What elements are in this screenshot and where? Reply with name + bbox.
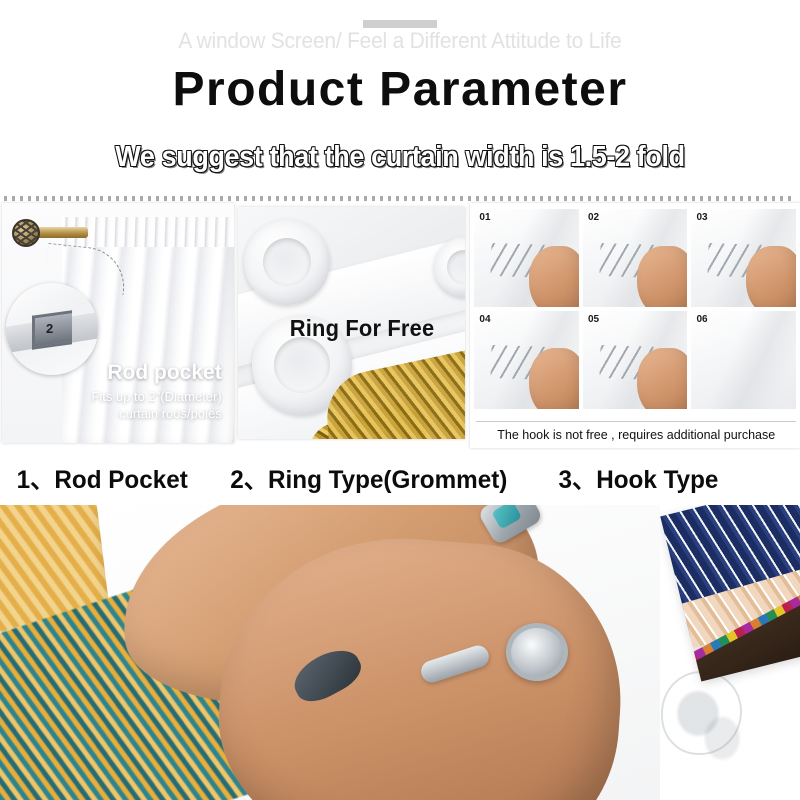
rod-pocket-description: Fits up to 2"(Diameter) curtain rods/pol…	[91, 388, 221, 423]
hand-illustration	[637, 246, 687, 307]
type-label-rod-pocket: 1、Rod Pocket	[17, 460, 188, 496]
header-eyebrow: A window Screen/ Feel a Different Attitu…	[20, 28, 780, 54]
step-number: 03	[696, 212, 707, 223]
hook-step[interactable]: 02	[583, 209, 688, 307]
magnifier-measure-label: 2	[46, 321, 53, 336]
step-number: 02	[588, 212, 599, 223]
silver-ring	[506, 623, 568, 681]
panel-row: 2 Rod pocket Fits up to 2"(Diameter) cur…	[0, 203, 800, 448]
hand-illustration	[637, 348, 687, 409]
panel-ring-grommet[interactable]: Ring For Free	[238, 207, 466, 439]
hook-step[interactable]: 04	[474, 311, 579, 409]
product-parameter-page: A window Screen/ Feel a Different Attitu…	[0, 0, 800, 800]
lifestyle-photo-row	[0, 505, 800, 800]
step-number: 01	[479, 212, 490, 223]
hook-step-grid: 01 02 03 04	[474, 209, 796, 409]
page-title: Product Parameter	[0, 62, 800, 117]
step-number: 04	[479, 314, 490, 325]
dotted-divider	[4, 196, 796, 201]
hook-step[interactable]: 06	[691, 311, 796, 409]
step-fabric	[691, 311, 796, 409]
type-label-ring-grommet: 2、Ring Type(Grommet)	[231, 460, 508, 496]
panel-rod-pocket[interactable]: 2 Rod pocket Fits up to 2"(Diameter) cur…	[2, 203, 234, 443]
step-number: 06	[696, 314, 707, 325]
hand-illustration	[529, 246, 579, 307]
header-section: A window Screen/ Feel a Different Attitu…	[0, 0, 800, 198]
step-number: 05	[588, 314, 599, 325]
photo-hands-drawing	[0, 505, 660, 800]
hook-step[interactable]: 05	[583, 311, 688, 409]
hook-step[interactable]: 01	[474, 209, 579, 307]
grommet-ring-icon	[244, 219, 330, 305]
header-subtitle: We suggest that the curtain width is 1.5…	[28, 141, 772, 174]
rod-pocket-desc-line1: Fits up to 2"(Diameter)	[91, 388, 221, 406]
ring-for-free-label: Ring For Free	[290, 315, 435, 342]
hook-note-divider	[476, 421, 796, 422]
hook-step[interactable]: 03	[691, 209, 796, 307]
rod-pocket-desc-line2: curtain rods/poles	[91, 405, 221, 423]
top-accent-bar	[363, 20, 437, 28]
hand-illustration	[529, 348, 579, 409]
rod-finial-icon	[12, 219, 40, 247]
type-label-hook: 3、Hook Type	[559, 460, 719, 496]
hand-illustration	[746, 246, 796, 307]
magnifier-inset: 2	[6, 283, 98, 375]
panel-hook-steps[interactable]: 01 02 03 04	[470, 203, 800, 448]
photo-colored-pencils	[660, 505, 800, 800]
curtain-type-label-row: 1、Rod Pocket 2、Ring Type(Grommet) 3、Hook…	[0, 452, 800, 504]
rod-pocket-title: Rod pocket	[107, 361, 221, 385]
hook-purchase-note: The hook is not free , requires addition…	[476, 428, 796, 442]
